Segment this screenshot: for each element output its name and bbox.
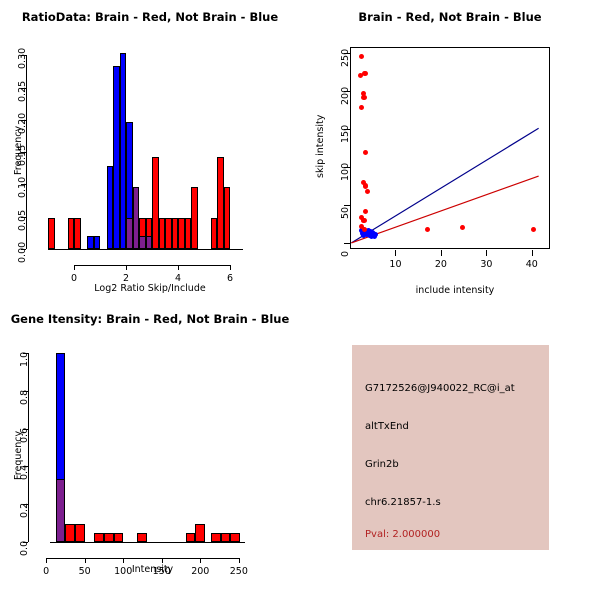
scatter-point	[531, 227, 536, 232]
y-axis-tick-label: 0.20	[17, 113, 28, 134]
scatter-point	[363, 183, 368, 188]
scatter-panel: Brain - Red, Not Brain - Blue skip inten…	[300, 0, 600, 300]
x-axis-tick-label: 200	[180, 566, 220, 577]
x-axis-tick-label: 6	[210, 273, 250, 284]
y-axis-tick-label: 150	[340, 125, 351, 143]
histogram-bar	[186, 533, 196, 542]
histogram-bar	[94, 236, 101, 249]
histogram-bar	[191, 187, 198, 249]
y-axis-tick-label: 200	[340, 87, 351, 105]
x-axis-tick	[162, 558, 163, 563]
x-axis-tick	[178, 265, 179, 270]
x-axis-line	[74, 265, 230, 266]
y-axis-tick-label: 0.25	[17, 80, 28, 101]
histogram-bar	[65, 524, 75, 542]
y-axis-tick-label: 0.2	[19, 503, 30, 518]
y-axis-tick-label: 250	[340, 49, 351, 67]
x-axis-tick	[85, 558, 86, 563]
y-axis-tick-label: 0.0	[19, 541, 30, 556]
y-axis-tick-label: 0.00	[17, 242, 28, 263]
x-axis-tick	[239, 558, 240, 563]
scatter-point	[362, 227, 367, 232]
scatter-point	[362, 71, 367, 76]
x-axis-tick-label: 0	[26, 566, 66, 577]
y-axis-tick-label: 0.4	[19, 465, 30, 480]
gene-histogram-plot: 0.00.20.40.60.81.0050100150200250	[0, 300, 300, 600]
y-axis-tick-label: 0.15	[17, 145, 28, 166]
x-axis-tick-label: 4	[158, 273, 198, 284]
info-event-type: altTxEnd	[365, 421, 409, 432]
x-axis-tick-label: 250	[219, 566, 259, 577]
gene-info-panel: G7172526@J940022_RC@i_at altTxEnd Grin2b…	[352, 345, 549, 550]
x-axis-tick	[123, 558, 124, 563]
histogram-bar	[230, 533, 240, 542]
x-axis-baseline	[48, 249, 243, 250]
x-axis-tick-label: 100	[103, 566, 143, 577]
histogram-bar	[211, 533, 221, 542]
x-axis-tick-label: 40	[512, 259, 552, 270]
y-axis-tick	[344, 205, 350, 206]
y-axis-tick-label: 0	[340, 251, 351, 257]
y-axis-tick-label: 1.0	[19, 352, 30, 367]
x-axis-tick	[532, 250, 533, 256]
histogram-bar	[221, 533, 231, 542]
x-axis-tick	[126, 265, 127, 270]
scatter-point	[361, 95, 366, 100]
x-axis-tick	[230, 265, 231, 270]
x-axis-baseline	[50, 542, 245, 543]
histogram-bar	[146, 236, 153, 249]
y-axis-tick-label: 0.10	[17, 177, 28, 198]
ratio-histogram-plot: 0.000.050.100.150.200.250.300246	[0, 0, 300, 300]
ratio-histogram-panel: RatioData: Brain - Red, Not Brain - Blue…	[0, 0, 300, 300]
y-axis-tick-label: 50	[340, 207, 351, 219]
x-axis-tick-label: 50	[65, 566, 105, 577]
histogram-bar	[56, 479, 66, 542]
x-axis-tick	[46, 558, 47, 563]
gene-histogram-panel: Gene Itensity: Brain - Red, Not Brain - …	[0, 300, 300, 600]
x-axis-tick-label: 30	[466, 259, 506, 270]
info-pval: Pval: 2.000000	[365, 529, 440, 540]
x-axis-tick-label: 20	[421, 259, 461, 270]
histogram-bar	[104, 533, 114, 542]
x-axis-tick	[486, 250, 487, 256]
x-axis-tick-label: 0	[54, 273, 94, 284]
y-axis-tick	[344, 243, 350, 244]
x-axis-tick	[74, 265, 75, 270]
info-gene-symbol: Grin2b	[365, 459, 399, 470]
y-axis-tick-label: 0.6	[19, 427, 30, 442]
x-axis-tick-label: 10	[375, 259, 415, 270]
histogram-bar	[48, 218, 55, 249]
y-axis-tick-label: 0.05	[17, 210, 28, 231]
y-axis-tick-label: 0.30	[17, 48, 28, 69]
x-axis-tick-label: 2	[106, 273, 146, 284]
info-coordinate: chr6.21857-1.s	[365, 497, 441, 508]
x-axis-tick	[395, 250, 396, 256]
y-axis-tick-label: 0.8	[19, 390, 30, 405]
histogram-bar	[94, 533, 104, 542]
scatter-plot-box	[350, 47, 550, 249]
histogram-bar	[114, 533, 124, 542]
histogram-bar	[137, 533, 147, 542]
x-axis-tick	[441, 250, 442, 256]
scatter-plot: 05010015020025010203040	[300, 0, 600, 300]
info-probe-id: G7172526@J940022_RC@i_at	[365, 383, 515, 394]
x-axis-line	[46, 558, 239, 559]
histogram-bar	[74, 218, 81, 249]
histogram-bar	[75, 524, 85, 542]
x-axis-tick-label: 150	[142, 566, 182, 577]
histogram-bar	[195, 524, 205, 542]
histogram-bar	[224, 187, 231, 249]
x-axis-tick	[200, 558, 201, 563]
scatter-point	[425, 227, 430, 232]
y-axis-tick-label: 100	[340, 163, 351, 181]
